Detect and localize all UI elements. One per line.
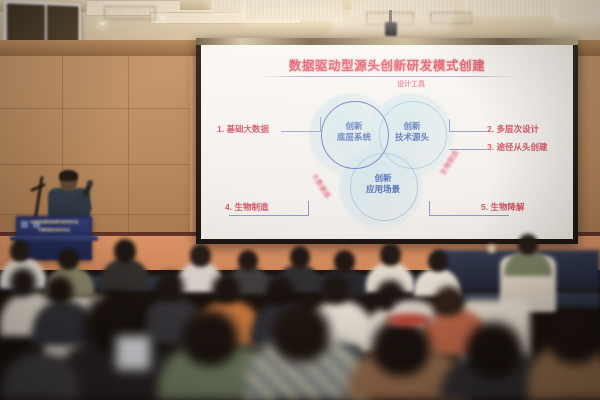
slide-title: 数据驱动型源头创新研发模式创建 [201,55,573,74]
attendee-head [334,250,355,272]
venn-node-2-label: 创新 技术源头 [379,121,445,143]
microphone-capsule [87,180,93,186]
venn-node-3-label: 创新 应用场景 [350,173,416,195]
title-divider [257,76,517,77]
face-mask [116,336,150,370]
attendee-head [290,246,310,268]
attendee-head [182,310,238,366]
venn-diagram: 设计工具 创新 底层系统 创新 技术源头 创新 应用场景 大数据库 生物制造 1… [201,79,573,239]
leader-line-1-stem [320,117,322,132]
diagonal-label-left: 大数据库 [311,171,334,200]
attendee-head [272,304,330,362]
attendee-head [518,234,538,255]
presentation-photo: 数据驱动型源头创新研发模式创建 设计工具 创新 底层系统 创新 技术源头 创新 … [0,0,600,400]
attendee-head [212,274,240,304]
attendee-head [372,318,430,376]
annotation-4: 4. 生物制造 [225,201,268,213]
attendee-head [380,243,401,266]
attendee-head [46,276,73,305]
leader-line-5 [429,215,509,217]
attendee-head [114,239,136,263]
drinking-cup [488,245,495,253]
projection-screen[interactable]: 数据驱动型源头创新研发模式创建 设计工具 创新 底层系统 创新 技术源头 创新 … [201,45,573,239]
attendee-head [190,244,211,267]
leader-line-2 [449,131,487,133]
downlight [160,16,165,19]
projector [385,22,397,36]
attendee-head [156,272,184,302]
annotation-3: 3. 途径从头创建 [487,141,547,153]
leader-line-1 [281,131,321,133]
leader-line-5-stem [429,201,431,216]
screen-top-trim [196,38,578,45]
eyeglasses-icon [61,179,76,183]
attendee-head [428,250,448,272]
annotation-2: 2. 多层次设计 [487,123,539,135]
ceiling-light [244,0,344,20]
attendee-head [548,310,600,364]
air-vent [104,6,156,20]
attendee-head [434,286,464,316]
design-tool-label: 设计工具 [351,79,471,89]
attendee-head [322,274,350,304]
leader-line-4-stem [308,201,310,216]
leader-line-4 [229,215,309,217]
venn-node-1-label: 创新 底层系统 [321,121,387,143]
attendee-head [10,268,36,296]
podium-banner-line-1: 2021年全国科技创新与转化研讨会 [18,220,90,225]
annotation-1: 1. 基础大数据 [217,123,269,135]
attendee-head [466,322,522,378]
podium-banner-line-2: 生物制造前沿技术论坛 [18,228,90,233]
annotation-5: 5. 生物降解 [481,201,524,213]
ceiling-light [556,4,600,22]
attendee-head [238,250,258,271]
downlight [100,22,105,25]
attendee-head [10,240,30,262]
leader-line-2-stem [449,119,451,132]
leader-line-3 [449,149,487,151]
attendee-head [266,276,294,306]
baseball-cap-brim [386,314,432,326]
ceiling-light [466,0,562,14]
attendee-head [58,248,79,270]
